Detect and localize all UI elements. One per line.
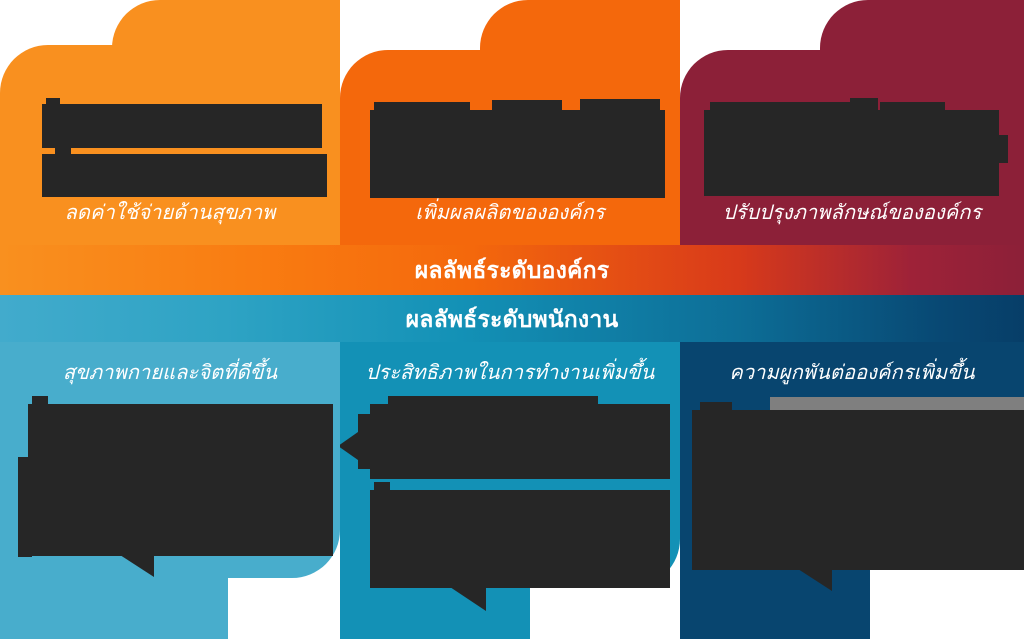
card-content: ประสิทธิภาพในการทำงานเพิ่มขึ้น (340, 342, 680, 639)
card-subtitle: สุขภาพกายและจิตที่ดีขึ้น (0, 360, 340, 386)
redacted-headline-notch-2 (492, 100, 562, 112)
redacted-headline-notch (710, 102, 850, 112)
redacted-headline-notch-3 (880, 102, 945, 112)
redacted-headline-block (370, 110, 665, 198)
card-subtitle: เพิ่มผลผลิตขององค์กร (340, 200, 680, 226)
redacted-body-block (370, 404, 670, 479)
redacted-body-notch (32, 396, 48, 406)
card-content: ปรับปรุงภาพลักษณ์ขององค์กร (680, 0, 1024, 245)
redacted-secondary-bar (770, 397, 1024, 411)
redacted-body-block-2 (370, 490, 670, 588)
card-subtitle: ประสิทธิภาพในการทำงานเพิ่มขึ้น (340, 360, 680, 386)
redacted-headline-notch (374, 102, 470, 112)
redacted-body-notch (388, 396, 598, 406)
redacted-body-notch (700, 402, 732, 412)
card-improve-corporate-image[interactable]: ปรับปรุงภาพลักษณ์ขององค์กร (680, 0, 1024, 245)
card-higher-organizational-engagement[interactable]: ความผูกพันต่อองค์กรเพิ่มขึ้น (680, 342, 1024, 639)
redacted-headline-notch-3 (580, 99, 660, 112)
redacted-headline-notch (46, 98, 60, 108)
infographic-canvas: ลดค่าใช้จ่ายด้านสุขภาพ เพิ่มผลผลิตขององค… (0, 0, 1024, 639)
speech-bubble-tail (450, 587, 486, 611)
redacted-headline-block-2 (42, 154, 327, 197)
redacted-headline-notch-4 (948, 135, 1008, 163)
band-organization-results: ผลลัพธ์ระดับองค์กร (0, 245, 1024, 295)
speech-bubble-tail (798, 569, 832, 591)
band-employee-results: ผลลัพธ์ระดับพนักงาน (0, 295, 1024, 342)
redacted-headline-notch-2 (55, 148, 71, 157)
card-content: ลดค่าใช้จ่ายด้านสุขภาพ (0, 0, 340, 245)
speech-bubble-tail (120, 555, 154, 577)
redacted-headline-notch-2 (850, 98, 878, 112)
redacted-body-arrow (358, 414, 372, 469)
redacted-body-block (692, 410, 1024, 570)
redacted-headline-block (42, 104, 322, 148)
card-content: สุขภาพกายและจิตที่ดีขึ้น (0, 342, 340, 639)
redacted-body-notch-2 (374, 482, 390, 492)
card-content: เพิ่มผลผลิตขององค์กร (340, 0, 680, 245)
card-higher-work-efficiency[interactable]: ประสิทธิภาพในการทำงานเพิ่มขึ้น (340, 342, 680, 639)
band-organization-label: ผลลัพธ์ระดับองค์กร (415, 257, 610, 283)
redacted-body-arrow-tip (340, 432, 358, 460)
card-reduce-health-cost[interactable]: ลดค่าใช้จ่ายด้านสุขภาพ (0, 0, 340, 245)
card-increase-productivity[interactable]: เพิ่มผลผลิตขององค์กร (340, 0, 680, 245)
card-subtitle: ลดค่าใช้จ่ายด้านสุขภาพ (0, 200, 340, 226)
redacted-body-block (28, 404, 333, 556)
card-subtitle: ความผูกพันต่อองค์กรเพิ่มขึ้น (680, 360, 1024, 386)
band-employee-label: ผลลัพธ์ระดับพนักงาน (406, 306, 619, 332)
card-better-physical-mental-health[interactable]: สุขภาพกายและจิตที่ดีขึ้น (0, 342, 340, 639)
card-subtitle: ปรับปรุงภาพลักษณ์ขององค์กร (680, 200, 1024, 226)
redacted-body-side (18, 457, 32, 557)
card-content: ความผูกพันต่อองค์กรเพิ่มขึ้น (680, 342, 1024, 639)
